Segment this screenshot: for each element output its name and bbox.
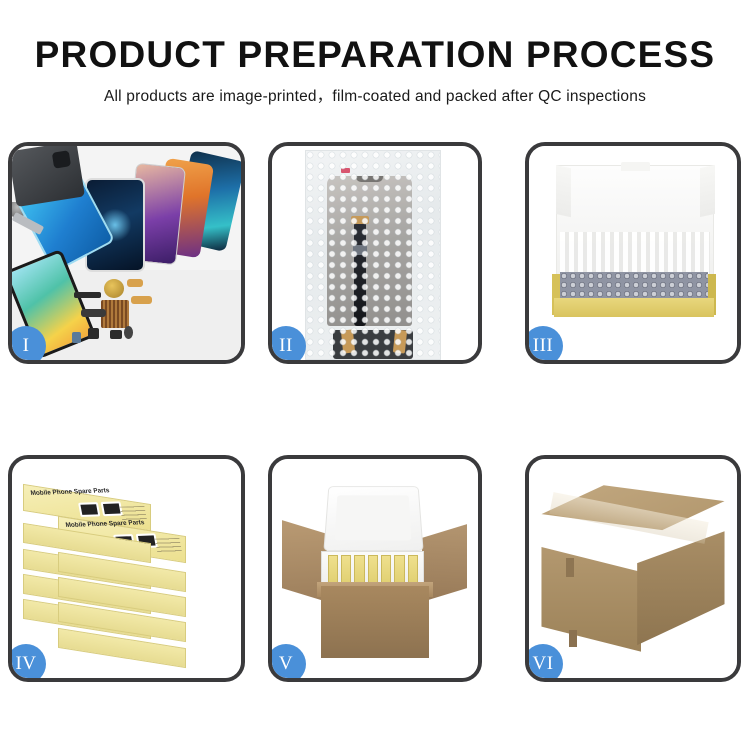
foam-lid-flap-right: [700, 165, 715, 217]
step-badge-3: III: [525, 326, 563, 364]
carton-right-face: [637, 531, 724, 645]
part-flex-cable-3: [127, 279, 143, 288]
step-badge-5: V: [268, 644, 306, 682]
tray-front-wall: [554, 298, 714, 317]
part-battery-connector: [72, 332, 81, 343]
process-step-5[interactable]: V: [268, 455, 482, 682]
step-badge-2: II: [268, 326, 306, 364]
step-1-image: [12, 146, 241, 360]
step-badge-1: I: [8, 326, 46, 364]
page-root: PRODUCT PREPARATION PROCESS All products…: [0, 0, 750, 750]
process-step-1[interactable]: I: [8, 142, 245, 364]
foam-lid-tab: [621, 162, 650, 171]
part-camera-lens: [124, 326, 133, 339]
part-small-2: [110, 330, 121, 339]
process-step-4[interactable]: Mobile Phone Spare Parts Mobile Phone Sp…: [8, 455, 245, 682]
part-earpiece-bar: [74, 292, 101, 298]
foam-lid-flap-left: [556, 165, 571, 217]
step-badge-6: VI: [525, 644, 563, 682]
process-step-3[interactable]: III: [525, 142, 741, 364]
part-small-1: [88, 328, 99, 339]
part-flex-cable-2: [131, 296, 152, 305]
stacked-boxes-scene: Mobile Phone Spare Parts Mobile Phone Sp…: [12, 459, 241, 678]
part-flex-cable-1: [81, 309, 106, 318]
part-speaker-coil: [104, 279, 125, 298]
step-2-image: [272, 146, 478, 360]
inner-box-scene: [529, 146, 737, 360]
bubble-wrap-scene: [272, 146, 478, 360]
step-badge-4: IV: [8, 644, 46, 682]
step-6-image: [529, 459, 737, 678]
process-step-6[interactable]: VI: [525, 455, 741, 682]
phone-parts-scene: [12, 146, 241, 360]
carton-seam-upper: [566, 558, 573, 578]
carton-packing-scene: [272, 459, 478, 678]
carton-seam-lower: [569, 630, 577, 648]
box-label-text: Mobile Phone Spare Parts: [66, 520, 136, 530]
carton-left-face: [541, 538, 641, 652]
step-3-image: [529, 146, 737, 360]
step-5-image: [272, 459, 478, 678]
foam-box-lid: [323, 486, 423, 551]
step-4-image: Mobile Phone Spare Parts Mobile Phone Sp…: [12, 459, 241, 678]
bubble-bag: [305, 150, 441, 360]
sealed-carton-scene: [529, 459, 737, 678]
process-grid: I II: [0, 0, 750, 750]
carton-body: [321, 586, 428, 658]
box-spec-lines: [155, 538, 183, 555]
box-label-text: Mobile Phone Spare Parts: [31, 487, 101, 497]
part-back-housing: [12, 146, 85, 207]
box-stack: Mobile Phone Spare Parts Mobile Phone Sp…: [23, 483, 229, 663]
box-thumbnails: [79, 502, 124, 518]
bubble-texture: [306, 151, 440, 359]
process-step-2[interactable]: II: [268, 142, 482, 364]
